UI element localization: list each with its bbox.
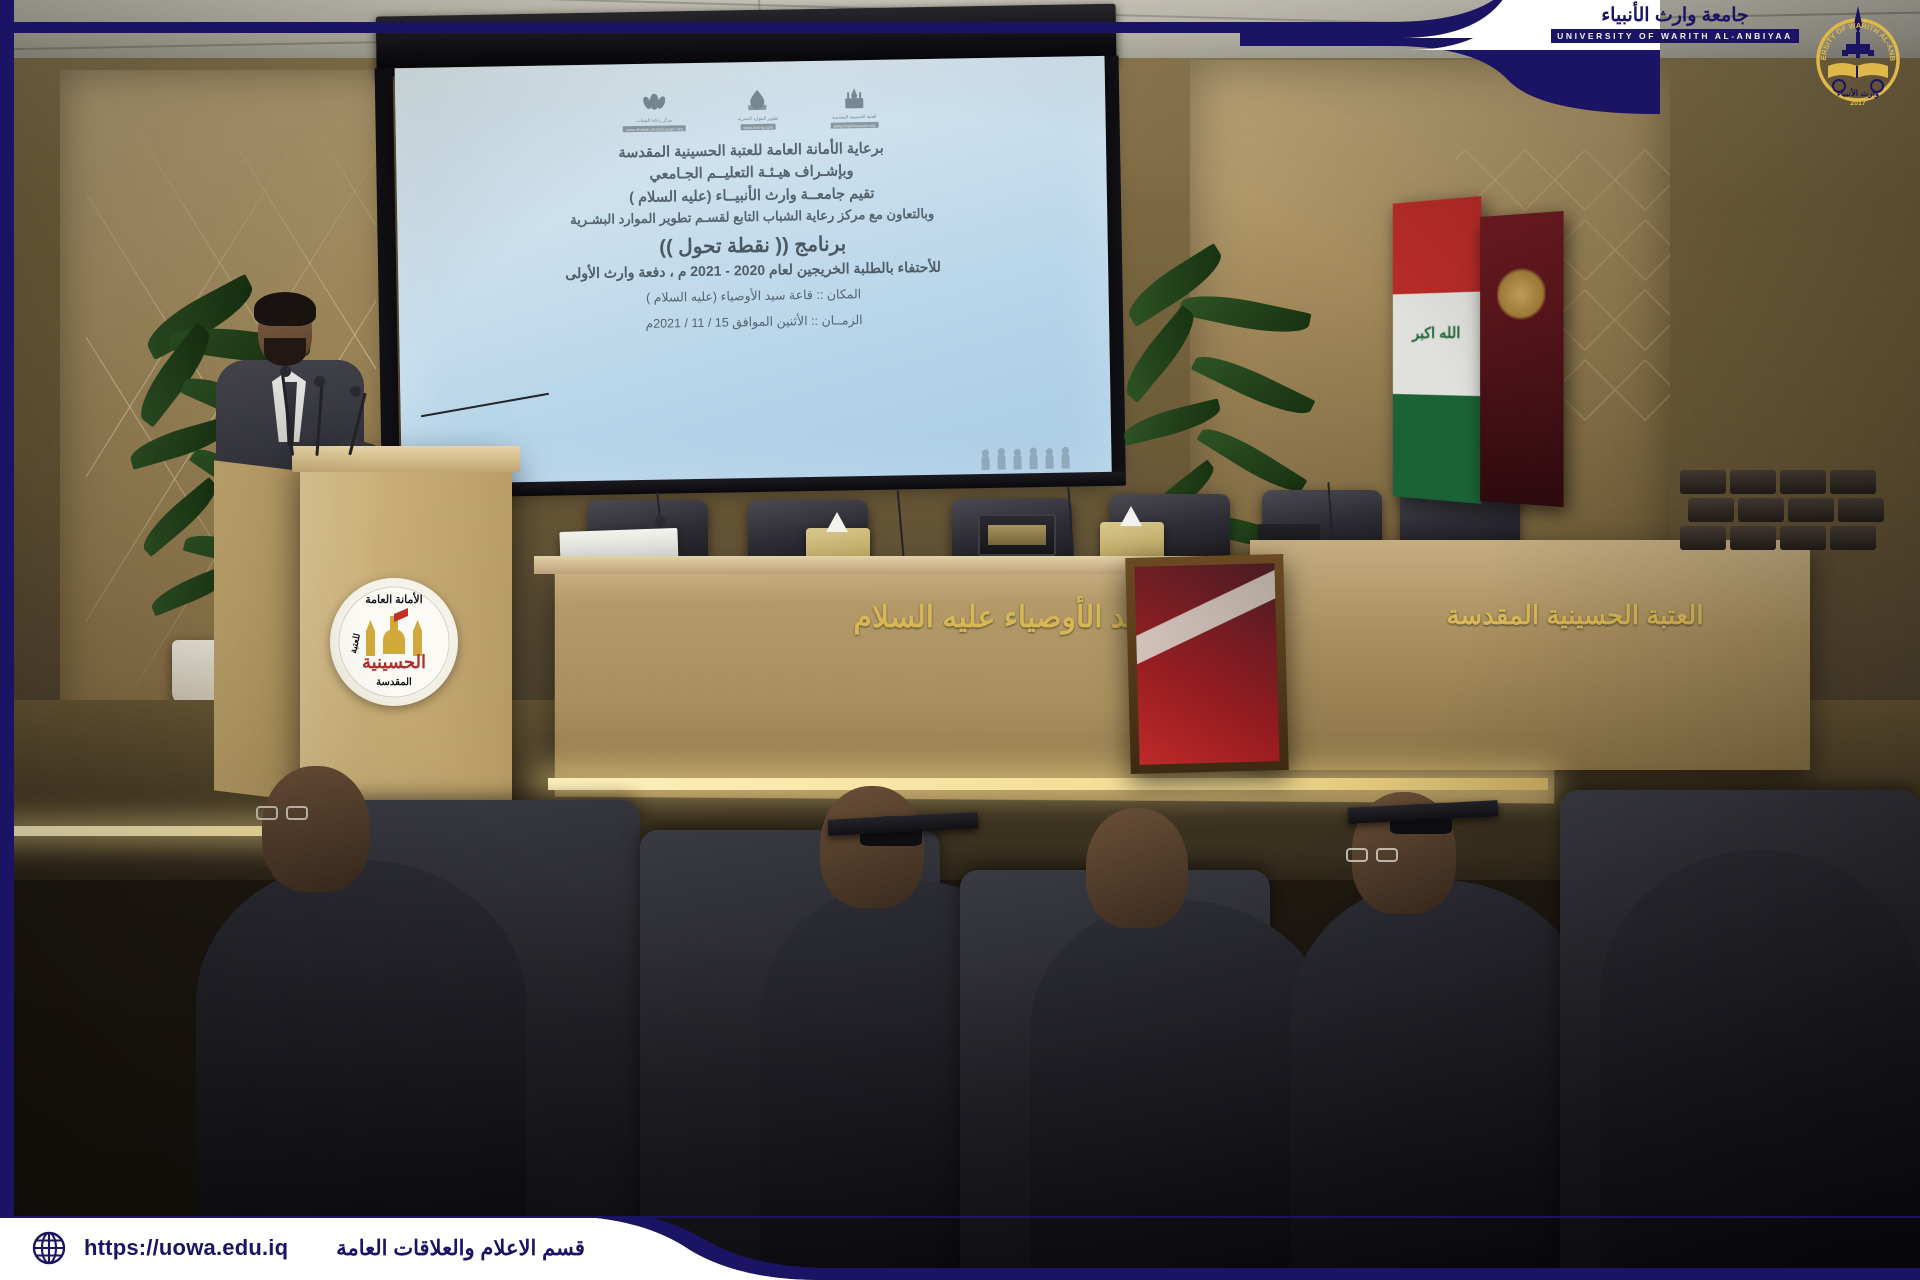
eyeglasses-icon [256,806,310,820]
university-wordmark: جامعة وارث الأنبياء UNIVERSITY OF WARITH… [1550,6,1800,44]
org-logo-caption: تطوير الموارد البشرية [738,116,779,123]
university-emblem-icon: UNIVERSITY OF WARITH AL-ANBIYAA وارث الأ… [1812,4,1904,110]
eyeglasses-icon-2 [1346,848,1400,862]
podium-top-surface [292,446,520,472]
emblem-name-arabic: وارث الأنبياء [1837,87,1879,99]
dais-under-light [548,778,1548,790]
org-logo-imam-hussain: العتبة الحسينية المقدسة www.imamhussain.… [830,86,879,129]
org-logo-youth-center: مركز رعاية الشباب www.shabab.imamhussain… [622,89,686,132]
framed-portrait [1125,554,1289,774]
svg-text:الأمانة العامة: الأمانة العامة [365,592,422,606]
org-logo-caption: العتبة الحسينية المقدسة [832,114,877,121]
audience-head-1 [262,766,370,892]
projection-screen: العتبة الحسينية المقدسة www.imamhussain.… [395,56,1112,488]
emblem-year: 2017 [1850,100,1866,107]
audience-head-3 [1086,808,1188,928]
iraq-flag [1393,196,1481,504]
youth-bloom-icon [641,89,667,115]
footer-department-name: قسم الاعلام والعلاقات العامة [306,1236,585,1261]
slide-datetime: الزمــان :: الأثنين الموافق 15 / 11 / 20… [645,312,863,331]
holy-shrine-emblem-icon: الأمانة العامة المقدسة للعتبة الحسينية [338,586,450,698]
university-name-english: UNIVERSITY OF WARITH AL-ANBIYAA [1551,29,1799,43]
dais-mic-head-1 [655,516,666,527]
screenshot-root: العتبة الحسينية المقدسة www.imamhussain.… [0,0,1920,1280]
microphone-head-3 [350,386,361,397]
microphone-head-2 [314,376,325,387]
shrine-icon [841,86,867,112]
footer: https://uowa.edu.iq قسم الاعلام والعلاقا… [18,1216,718,1280]
audience-head-2 [820,786,924,908]
portrait-image [1134,563,1279,765]
microphone-head-1 [280,366,291,377]
book-drop-icon [744,88,770,114]
podium-side-panel [214,460,306,801]
speaker-hair [254,292,316,326]
org-logo-url: www.imamhussain.org [830,122,878,129]
globe-icon [32,1231,66,1265]
podium-emblem: الأمانة العامة المقدسة للعتبة الحسينية [330,578,458,706]
speaker-beard [264,338,306,366]
slide-venue: المكان :: قاعة سيد الأوصياء (عليه السلام… [646,286,861,305]
graduates-silhouette-icon [975,442,1085,470]
frame-top-bar [0,22,1290,33]
projection-screen-assembly: العتبة الحسينية المقدسة www.imamhussain.… [394,4,1115,516]
footer-website-url[interactable]: https://uowa.edu.iq [84,1235,288,1261]
org-logo-caption: مركز رعاية الشباب [636,117,672,124]
org-logo-url: www.shabab.imamhussain.org [623,125,686,132]
dais-right-calligraphy: العتبة الحسينية المقدسة [1340,600,1810,660]
dais-nameplate [978,514,1056,556]
event-photograph: العتبة الحسينية المقدسة www.imamhussain.… [0,0,1920,1280]
org-logo-url: www.hrd-iq.com [740,124,776,131]
svg-text:المقدسة: المقدسة [376,677,412,688]
university-banner-flag [1480,211,1563,507]
university-name-arabic: جامعة وارث الأنبياء [1550,6,1800,25]
slide-organization-logos: العتبة الحسينية المقدسة www.imamhussain.… [421,82,1080,135]
frame-left-bar [0,0,14,1280]
svg-text:الحسينية: الحسينية [362,652,426,672]
stacked-chairs [1680,470,1910,556]
org-logo-hrd: تطوير الموارد البشرية www.hrd-iq.com [737,88,778,131]
presentation-slide: العتبة الحسينية المقدسة www.imamhussain.… [395,56,1112,488]
